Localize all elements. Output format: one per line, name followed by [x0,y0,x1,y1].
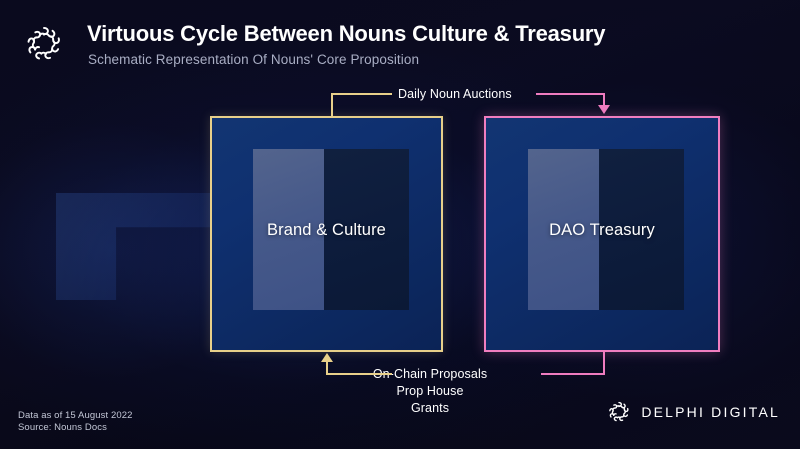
node-brand-culture-label: Brand & Culture [212,221,441,240]
top-connector-pink-horizontal [536,93,604,95]
nouns-loop-logo-icon [22,22,66,66]
page-title: Virtuous Cycle Between Nouns Culture & T… [87,21,605,47]
bottom-connector-arrowhead [321,353,333,362]
footnote-source: Source: Nouns Docs [18,422,107,433]
top-connector-label: Daily Noun Auctions [398,87,512,101]
bottom-connector-gold-horizontal [326,373,392,375]
footnote-data-as-of: Data as of 15 August 2022 [18,410,132,421]
top-connector-gold-horizontal [331,93,392,95]
bottom-connector-label-line-2: Prop House [330,384,530,398]
node-dao-treasury-label: DAO Treasury [486,221,718,240]
diagram-canvas: Virtuous Cycle Between Nouns Culture & T… [0,0,800,449]
brand-name: DELPHI DIGITAL [641,404,780,420]
top-connector-arrowhead [598,105,610,114]
bottom-connector-pink-vertical [603,352,605,374]
node-dao-treasury[interactable]: DAO Treasury [484,116,720,352]
brand-lockup: DELPHI DIGITAL [606,399,780,425]
page-subtitle: Schematic Representation Of Nouns' Core … [88,52,419,67]
header: Virtuous Cycle Between Nouns Culture & T… [0,0,800,92]
node-brand-culture[interactable]: Brand & Culture [210,116,443,352]
delphi-loop-logo-icon [606,399,632,425]
top-connector-gold-vertical [331,94,333,118]
bottom-connector-gold-vertical [326,362,328,375]
bottom-connector-pink-horizontal [541,373,605,375]
bottom-connector-label-line-3: Grants [330,401,530,415]
